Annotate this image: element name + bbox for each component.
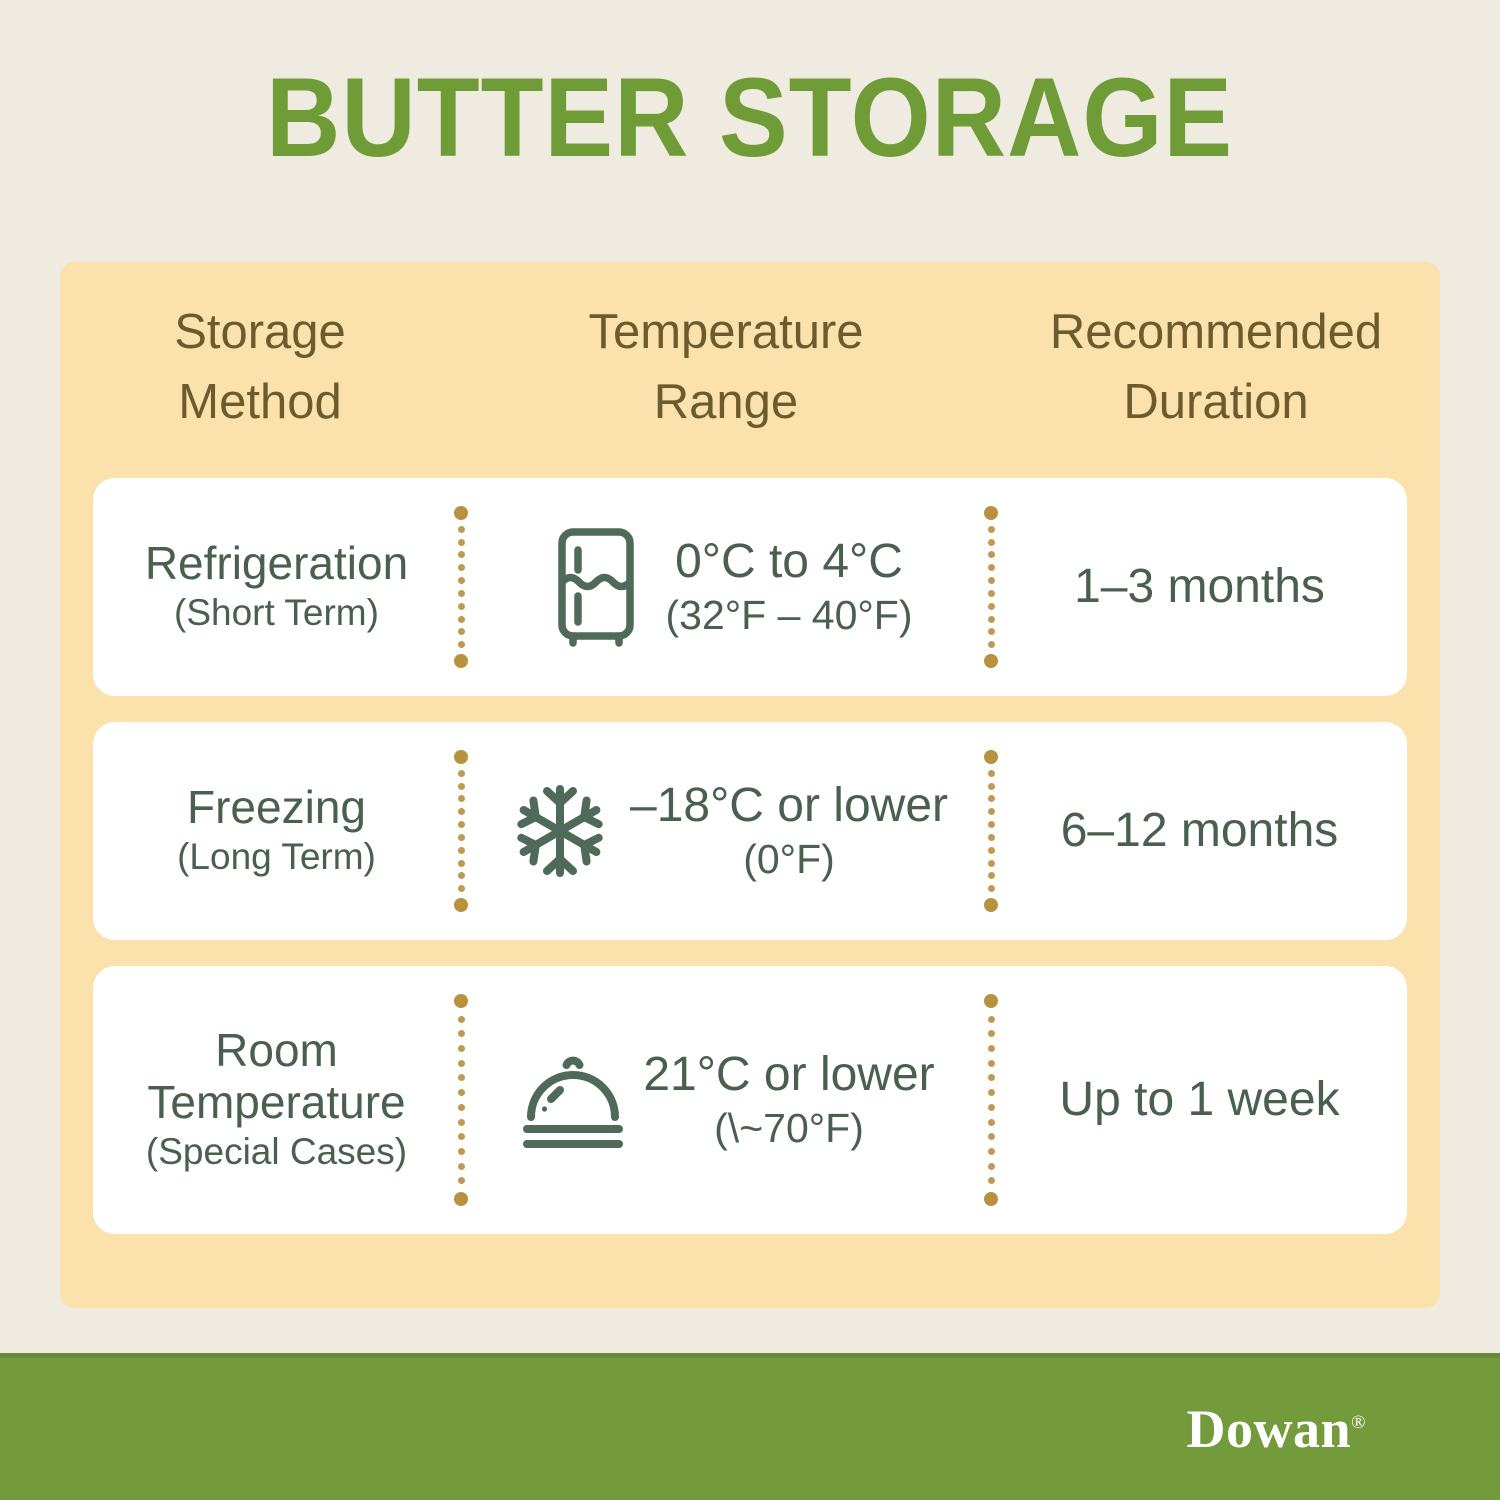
divider-dot [988,1016,995,1023]
divider-dot [458,603,465,610]
divider-dot [988,885,995,892]
divider-dot [988,1060,995,1067]
divider-dot [454,994,468,1008]
divider-dot [458,847,465,854]
divider-dot [458,526,465,533]
divider-dot [988,628,995,635]
crescent-leaf-icon [1360,1381,1446,1477]
divider-dot [984,654,998,668]
brand-logo: Dowan® [1187,1381,1446,1477]
method-qualifier: (Special Cases) [101,1129,452,1174]
temperature-text: 0°C to 4°C (32°F – 40°F) [666,534,913,640]
method-qualifier: (Short Term) [101,590,452,635]
column-divider-dotted [990,994,992,1206]
divider-dot [988,795,995,802]
temperature-celsius: 21°C or lower [643,1047,934,1104]
cell-recommended-duration: Up to 1 week [992,1071,1407,1129]
divider-dot [458,628,465,635]
divider-dot [458,783,465,790]
divider-dot [988,1104,995,1111]
temperature-fahrenheit: (0°F) [630,835,948,884]
divider-dot [988,1030,995,1037]
divider-dot [458,1119,465,1126]
column-divider-dotted [990,750,992,912]
divider-dot [988,603,995,610]
divider-dot [458,564,465,571]
divider-dot [984,994,998,1008]
divider-dot [984,1192,998,1206]
page-title-container: BUTTER STORAGE [0,62,1500,174]
divider-dot [458,860,465,867]
divider-dot [454,1192,468,1206]
divider-dot [988,1119,995,1126]
divider-dot [988,860,995,867]
cell-recommended-duration: 6–12 months [992,802,1407,860]
divider-dot [458,821,465,828]
table-row: Room Temperature (Special Cases) [93,966,1407,1234]
cell-storage-method: Room Temperature (Special Cases) [93,1025,460,1174]
temperature-celsius: 0°C to 4°C [666,534,913,591]
divider-dot [988,1074,995,1081]
divider-dot [984,750,998,764]
divider-dot [458,834,465,841]
divider-dot [458,590,465,597]
divider-dot [458,1133,465,1140]
table-header-row: Storage Method Temperature Range Recomme… [60,292,1440,452]
divider-dot [454,750,468,764]
divider-dot [458,808,465,815]
divider-dot [458,1045,465,1052]
divider-dot [458,616,465,623]
column-header-line2: Range [588,368,863,438]
method-qualifier: (Long Term) [101,834,452,879]
divider-dot [458,885,465,892]
column-header-line1: Temperature [588,298,863,368]
registered-trademark-icon: ® [1351,1412,1366,1433]
divider-dot [458,1030,465,1037]
divider-dot [458,1060,465,1067]
divider-dot [984,898,998,912]
divider-dot [988,821,995,828]
cell-temperature-range: 0°C to 4°C (32°F – 40°F) [462,526,990,648]
column-header-line1: Recommended [1050,298,1382,368]
divider-dot [458,1163,465,1170]
divider-dot [458,770,465,777]
divider-dot [988,847,995,854]
divider-dot [988,1089,995,1096]
cell-recommended-duration: 1–3 months [992,558,1407,616]
column-divider-dotted [990,506,992,668]
page-title: BUTTER STORAGE [266,62,1233,174]
divider-dot [458,1074,465,1081]
divider-dot [454,654,468,668]
divider-dot [458,539,465,546]
footer-bar: Dowan® [0,1358,1500,1500]
divider-dot [988,590,995,597]
cell-temperature-range: 21°C or lower (\~70°F) [462,1045,990,1155]
temperature-fahrenheit: (\~70°F) [643,1104,934,1153]
divider-dot [984,506,998,520]
divider-dot [458,1104,465,1111]
temperature-text: 21°C or lower (\~70°F) [643,1047,934,1153]
divider-dot [458,1016,465,1023]
divider-dot [988,539,995,546]
divider-dot [988,770,995,777]
divider-dot [458,795,465,802]
divider-dot [454,898,468,912]
divider-dot [454,506,468,520]
method-name-line2: Temperature [101,1077,452,1129]
column-header-temperature-range: Temperature Range [460,292,992,452]
method-name-line1: Room [101,1025,452,1077]
temperature-celsius: –18°C or lower [630,778,948,835]
brand-name: Dowan® [1187,1398,1366,1460]
divider-dot [988,551,995,558]
divider-dot [988,564,995,571]
column-divider-dotted [460,994,462,1206]
table-rows-container: Refrigeration (Short Term) [93,478,1407,1260]
table-row: Refrigeration (Short Term) [93,478,1407,696]
cell-storage-method: Refrigeration (Short Term) [93,538,460,635]
divider-dot [458,872,465,879]
divider-dot [988,1133,995,1140]
cell-temperature-range: –18°C or lower (0°F) [462,778,990,884]
divider-dot [458,551,465,558]
divider-dot [988,1045,995,1052]
column-header-recommended-duration: Recommended Duration [992,292,1440,452]
column-header-line2: Method [174,368,346,438]
divider-dot [988,577,995,584]
snowflake-icon [504,779,616,883]
divider-dot [988,783,995,790]
divider-dot [458,1089,465,1096]
divider-dot [458,1177,465,1184]
cell-storage-method: Freezing (Long Term) [93,782,460,879]
food-cloche-icon [517,1045,629,1155]
temperature-fahrenheit: (32°F – 40°F) [666,591,913,640]
divider-dot [988,526,995,533]
method-name: Refrigeration [101,538,452,590]
method-name: Freezing [101,782,452,834]
divider-dot [988,616,995,623]
brand-text: Dowan [1187,1399,1352,1459]
table-row: Freezing (Long Term) [93,722,1407,940]
divider-dot [988,1163,995,1170]
divider-dot [458,577,465,584]
column-header-line2: Duration [1050,368,1382,438]
divider-dot [458,1148,465,1155]
divider-dot [988,1148,995,1155]
temperature-text: –18°C or lower (0°F) [630,778,948,884]
divider-dot [988,808,995,815]
storage-table-panel: Storage Method Temperature Range Recomme… [60,262,1440,1308]
column-header-storage-method: Storage Method [60,292,460,452]
divider-dot [988,641,995,648]
divider-dot [988,834,995,841]
divider-dot [988,1177,995,1184]
column-divider-dotted [460,506,462,668]
refrigerator-icon [540,526,652,648]
divider-dot [988,872,995,879]
column-header-line1: Storage [174,298,346,368]
column-divider-dotted [460,750,462,912]
divider-dot [458,641,465,648]
